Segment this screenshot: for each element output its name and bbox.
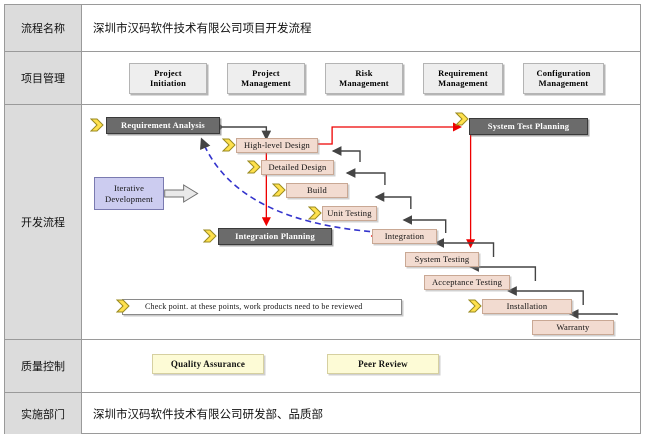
checkpoint-icon xyxy=(116,299,131,313)
node-integration-planning[interactable]: Integration Planning xyxy=(218,228,332,245)
node-requirement-analysis[interactable]: Requirement Analysis xyxy=(106,117,220,134)
checkpoint-icon xyxy=(455,112,470,126)
node-warranty[interactable]: Warranty xyxy=(532,320,614,335)
pm-box-risk-management[interactable]: Risk Management xyxy=(325,63,403,94)
pm-box-project-initiation[interactable]: Project Initiation xyxy=(129,63,207,94)
node-system-testing[interactable]: System Testing xyxy=(405,252,479,267)
node-build[interactable]: Build xyxy=(286,183,348,198)
process-table: 流程名称 项目管理 开发流程 质量控制 实施部门 深圳市汉码软件技术有限公司项目… xyxy=(4,4,641,434)
checkpoint-icon xyxy=(308,206,323,220)
checkpoint-icon xyxy=(247,160,262,174)
row-label-process-name: 流程名称 xyxy=(5,5,81,51)
checkpoint-icon xyxy=(468,299,483,313)
pm-box-line2: Initiation xyxy=(150,79,186,89)
checkpoint-icon xyxy=(90,118,105,132)
process-name-cell: 深圳市汉码软件技术有限公司项目开发流程 xyxy=(82,5,640,51)
department-text: 深圳市汉码软件技术有限公司研发部、品质部 xyxy=(93,406,323,422)
checkpoint-icon xyxy=(203,229,218,243)
pm-box-project-management[interactable]: Project Management xyxy=(227,63,305,94)
node-system-test-planning[interactable]: System Test Planning xyxy=(469,118,588,135)
row-label-department: 实施部门 xyxy=(5,393,81,434)
dev-flow-cell: Requirement Analysis High-level Design D… xyxy=(82,105,640,339)
pm-box-line2: Management xyxy=(438,79,488,89)
node-high-level-design[interactable]: High-level Design xyxy=(236,138,318,153)
node-installation[interactable]: Installation xyxy=(482,299,572,314)
qc-box-peer-review[interactable]: Peer Review xyxy=(327,354,439,374)
node-detailed-design[interactable]: Detailed Design xyxy=(261,160,334,175)
node-acceptance-testing[interactable]: Acceptance Testing xyxy=(424,275,510,290)
checkpoint-icon xyxy=(222,138,237,152)
department-cell: 深圳市汉码软件技术有限公司研发部、品质部 xyxy=(82,393,640,434)
process-name-text: 深圳市汉码软件技术有限公司项目开发流程 xyxy=(93,20,312,36)
node-unit-testing[interactable]: Unit Testing xyxy=(322,206,377,221)
quality-control-cell: Quality Assurance Peer Review xyxy=(82,340,640,392)
pm-box-line2: Management xyxy=(241,79,291,89)
checkpoint-legend-note: Check point. at these points, work produ… xyxy=(122,299,402,315)
pm-box-configuration-management[interactable]: Configuration Management xyxy=(523,63,604,94)
row-label-quality-control: 质量控制 xyxy=(5,340,81,392)
node-iterative-development[interactable]: Iterative Development xyxy=(94,177,164,210)
row-label-dev-flow: 开发流程 xyxy=(5,105,81,339)
checkpoint-icon xyxy=(272,183,287,197)
node-integration[interactable]: Integration xyxy=(372,229,437,244)
qc-box-quality-assurance[interactable]: Quality Assurance xyxy=(152,354,264,374)
project-management-cell: Project Initiation Project Management Ri… xyxy=(82,52,640,104)
pm-box-line2: Management xyxy=(339,79,389,89)
iterative-dev-line2: Development xyxy=(105,194,153,205)
row-label-project-management: 项目管理 xyxy=(5,52,81,104)
pm-box-line2: Management xyxy=(539,79,589,89)
iterative-dev-line1: Iterative xyxy=(114,183,144,194)
process-flow-diagram: 流程名称 项目管理 开发流程 质量控制 实施部门 深圳市汉码软件技术有限公司项目… xyxy=(0,0,646,440)
pm-box-requirement-management[interactable]: Requirement Management xyxy=(423,63,503,94)
